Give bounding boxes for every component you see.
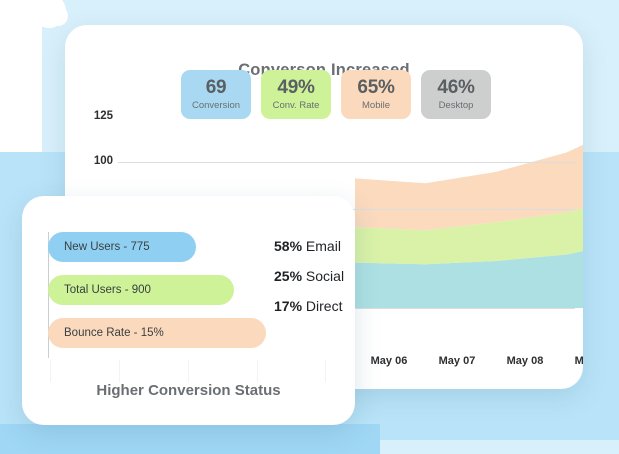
traffic-source-social: 25% Social [274,268,344,284]
kpi-label: Conv. Rate [273,101,320,111]
background-panel-deep [0,424,380,454]
background-strip-bottom-right [380,440,619,454]
traffic-source-label: Email [306,238,341,254]
kpi-badge-mobile[interactable]: 65% Mobile [341,70,411,119]
x-axis-tick-may-06: May 06 [362,355,416,367]
kpi-value: 46% [437,78,474,97]
kpi-label: Mobile [362,101,390,111]
bar-label: Bounce Rate - 15% [64,327,164,339]
background-notch-top-left [0,0,42,152]
bar-label: New Users - 775 [64,241,150,253]
kpi-value: 49% [277,78,314,97]
bar-new-users[interactable]: New Users - 775 [48,232,196,262]
traffic-source-label: Direct [306,298,343,314]
x-axis-tick-may-07: May 07 [430,355,484,367]
kpi-label: Desktop [439,101,474,111]
kpi-badge-conv-rate[interactable]: 49% Conv. Rate [261,70,331,119]
y-axis-tick-100: 100 [79,155,113,167]
kpi-badge-group: 69 Conversion 49% Conv. Rate 65% Mobile … [181,70,491,119]
traffic-source-breakdown: 58% Email 25% Social 17% Direct [274,238,344,328]
traffic-source-label: Social [306,268,344,284]
x-axis-tick-may-08: May 08 [498,355,552,367]
gridline-100 [118,162,575,163]
kpi-label: Conversion [192,101,240,111]
kpi-badge-conversion[interactable]: 69 Conversion [181,70,251,119]
traffic-source-email: 58% Email [274,238,344,254]
bar-total-users[interactable]: Total Users - 900 [48,275,234,305]
conversion-status-card: New Users - 775 Total Users - 900 Bounce… [22,196,355,425]
kpi-value: 65% [357,78,394,97]
bar-chart-column-guides [50,360,326,382]
y-axis-tick-125: 125 [79,110,113,122]
traffic-source-direct: 17% Direct [274,298,344,314]
background-notch-bottom-right [380,424,619,440]
background-blob-small [48,6,68,26]
kpi-badge-desktop[interactable]: 46% Desktop [421,70,491,119]
traffic-source-value: 58% [274,238,302,254]
bar-bounce-rate[interactable]: Bounce Rate - 15% [48,318,266,348]
x-axis-tick-may-09: May 09 [566,355,583,367]
traffic-source-value: 25% [274,268,302,284]
traffic-source-value: 17% [274,298,302,314]
kpi-value: 69 [206,78,227,97]
bar-label: Total Users - 900 [64,284,151,296]
screenshot-stage: Converson Increased 125 100 75 May 06 Ma… [0,0,619,454]
bar-chart-list: New Users - 775 Total Users - 900 Bounce… [48,232,298,361]
status-card-title: Higher Conversion Status [22,382,355,399]
